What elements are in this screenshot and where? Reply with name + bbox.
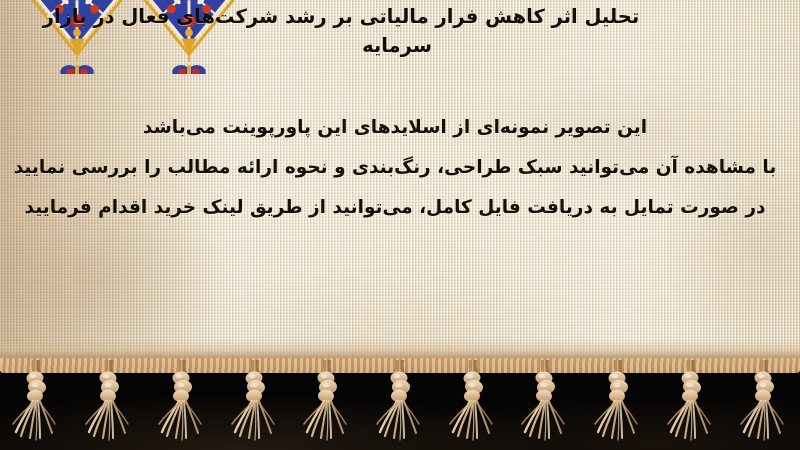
slide-body: این تصویر نمونه‌ای از اسلایدهای این پاور… bbox=[0, 108, 790, 228]
carpet-tassel bbox=[446, 360, 500, 446]
carpet-tassel bbox=[518, 360, 572, 446]
carpet-tassel bbox=[664, 360, 718, 446]
carpet-tassel bbox=[155, 360, 209, 446]
slide-body-line-1: این تصویر نمونه‌ای از اسلایدهای این پاور… bbox=[0, 108, 790, 148]
slide-body-line-2: با مشاهده آن می‌توانید سبک طراحی، رنگ‌بن… bbox=[0, 148, 790, 188]
carpet-tassel bbox=[9, 360, 63, 446]
slide-title-line-1: تحلیل اثر کاهش فرار مالیاتی بر رشد شرکت‌… bbox=[0, 2, 794, 31]
carpet-fringe-icon bbox=[0, 358, 800, 450]
slide-title-line-2: سرمایه bbox=[0, 31, 794, 60]
carpet-tassel bbox=[737, 360, 791, 446]
carpet-tassel bbox=[591, 360, 645, 446]
carpet-tassel bbox=[300, 360, 354, 446]
slide-canvas: تحلیل اثر کاهش فرار مالیاتی بر رشد شرکت‌… bbox=[0, 0, 800, 450]
carpet-tassel bbox=[373, 360, 427, 446]
carpet-tassel bbox=[82, 360, 136, 446]
carpet-bottom-band bbox=[0, 358, 800, 450]
slide-title: تحلیل اثر کاهش فرار مالیاتی بر رشد شرکت‌… bbox=[0, 2, 794, 60]
slide-body-line-3: در صورت تمایل به دریافت فایل کامل، می‌تو… bbox=[0, 188, 790, 228]
carpet-tassel bbox=[228, 360, 282, 446]
